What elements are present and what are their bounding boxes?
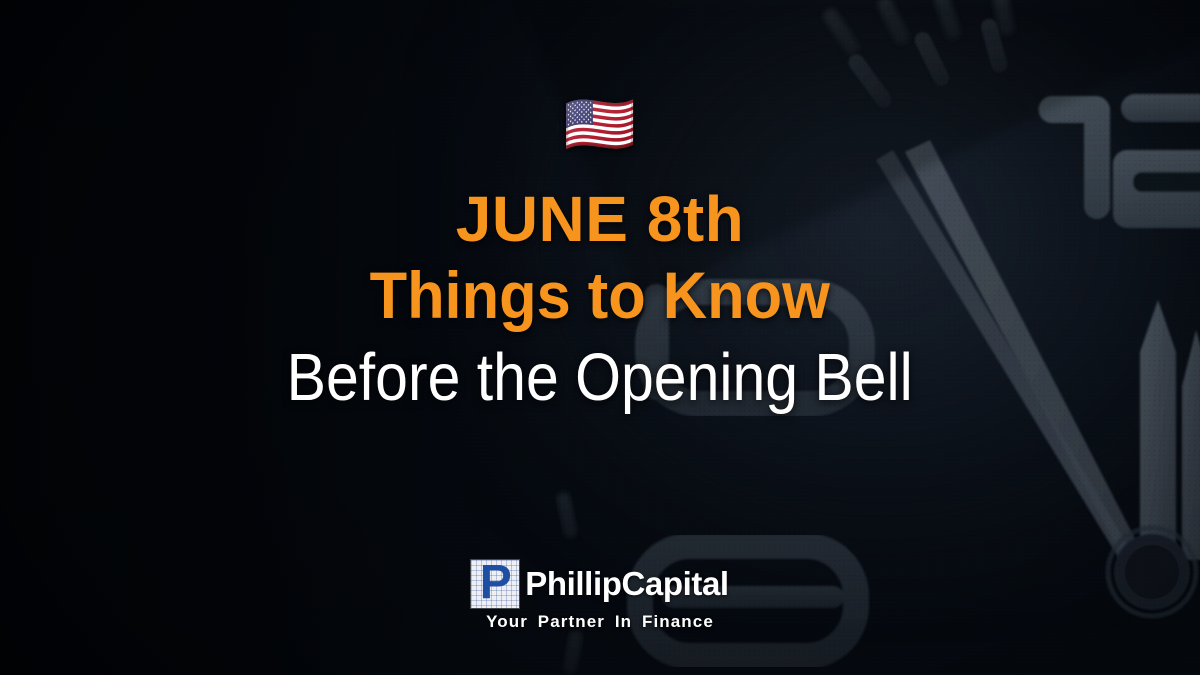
- headline-white-line: Before the Opening Bell: [287, 338, 913, 418]
- logo-row: P PhillipCapital: [471, 560, 728, 608]
- phillipcapital-logo: P PhillipCapital Your Partner In Finance: [0, 560, 1200, 632]
- headline-block: JUNE 8th Things to Know Before the Openi…: [244, 182, 955, 418]
- logo-wordmark: PhillipCapital: [525, 567, 728, 601]
- phillipcapital-p-mark-icon: P: [471, 560, 519, 608]
- headline-date: JUNE 8th: [244, 182, 955, 256]
- headline-orange-line: Things to Know: [269, 256, 931, 334]
- logo-tagline: Your Partner In Finance: [486, 612, 714, 632]
- us-flag-icon: 🇺🇸: [564, 96, 636, 160]
- logo-letter-p: P: [480, 561, 511, 605]
- slide-canvas: 🇺🇸 JUNE 8th Things to Know Before the Op…: [0, 0, 1200, 675]
